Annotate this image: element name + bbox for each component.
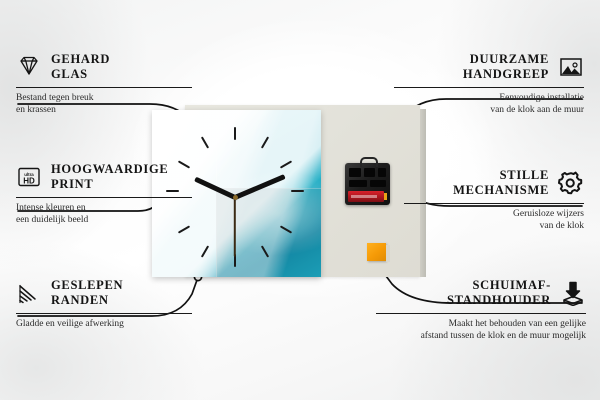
- feature-description: Eenvoudige installatie van de klok aan d…: [394, 92, 584, 117]
- clock-battery: [348, 191, 384, 202]
- feature-rule: [16, 313, 192, 314]
- feature-hoogwaardige-print: ultra HD HOOGWAARDIGE PRINT Intense kleu…: [16, 162, 192, 227]
- feature-stille-mechanisme: STILLE MECHANISME Geruisloze wijzers van…: [404, 168, 584, 233]
- feature-geslepen-randen: GESLEPEN RANDEN Gladde en veilige afwerk…: [16, 278, 192, 330]
- feature-title: GEHARD GLAS: [51, 52, 110, 83]
- hour-tick-12: [234, 127, 236, 140]
- movement-detail-d: [349, 180, 367, 187]
- ultra-hd-icon: ultra HD: [16, 164, 42, 190]
- infographic-canvas: GEHARD GLAS Bestand tegen breuk en krass…: [0, 0, 600, 400]
- feature-title: STILLE MECHANISME: [453, 168, 549, 199]
- feature-title: HOOGWAARDIGE PRINT: [51, 162, 168, 193]
- feature-gehard-glas: GEHARD GLAS Bestand tegen breuk en krass…: [16, 52, 192, 117]
- gear-icon: [558, 170, 584, 196]
- hour-tick-3: [291, 190, 304, 192]
- feature-description: Maakt het behouden van een gelijke afsta…: [376, 318, 586, 343]
- movement-detail-a: [349, 168, 361, 177]
- foam-spacer: [367, 243, 386, 261]
- press-down-arrow-icon: [560, 280, 586, 306]
- hanging-hook-icon: [360, 157, 378, 167]
- feature-rule: [16, 197, 192, 198]
- movement-detail-b: [364, 168, 375, 177]
- feature-rule: [404, 203, 584, 204]
- picture-frame-icon: [558, 54, 584, 80]
- feature-rule: [394, 87, 584, 88]
- diamond-icon: [16, 54, 42, 80]
- feature-rule: [16, 87, 192, 88]
- feature-description: Bestand tegen breuk en krassen: [16, 92, 192, 117]
- battery-label: [351, 195, 377, 198]
- feature-title: GESLEPEN RANDEN: [51, 278, 123, 309]
- feature-duurzame-handgreep: DUURZAME HANDGREEP Eenvoudige installati…: [394, 52, 584, 117]
- clock-movement: [345, 163, 390, 205]
- glass-quadrant-br: [216, 188, 321, 277]
- feature-title: SCHUIMAF- STANDHOUDER: [447, 278, 551, 309]
- bevelled-edges-icon: [16, 280, 42, 306]
- clock-center-hub: [233, 195, 238, 200]
- feature-schuimafstandhouder: SCHUIMAF- STANDHOUDER Maakt het behouden…: [376, 278, 586, 343]
- movement-detail-c: [378, 168, 386, 177]
- feature-rule: [376, 313, 586, 314]
- feature-title: DUURZAME HANDGREEP: [463, 52, 549, 83]
- feature-description: Gladde en veilige afwerking: [16, 318, 192, 331]
- svg-text:HD: HD: [23, 177, 35, 186]
- movement-detail-e: [370, 180, 386, 187]
- feature-description: Intense kleuren en een duidelijk beeld: [16, 202, 192, 227]
- clock-second-hand: [234, 197, 236, 257]
- feature-description: Geruisloze wijzers van de klok: [404, 208, 584, 233]
